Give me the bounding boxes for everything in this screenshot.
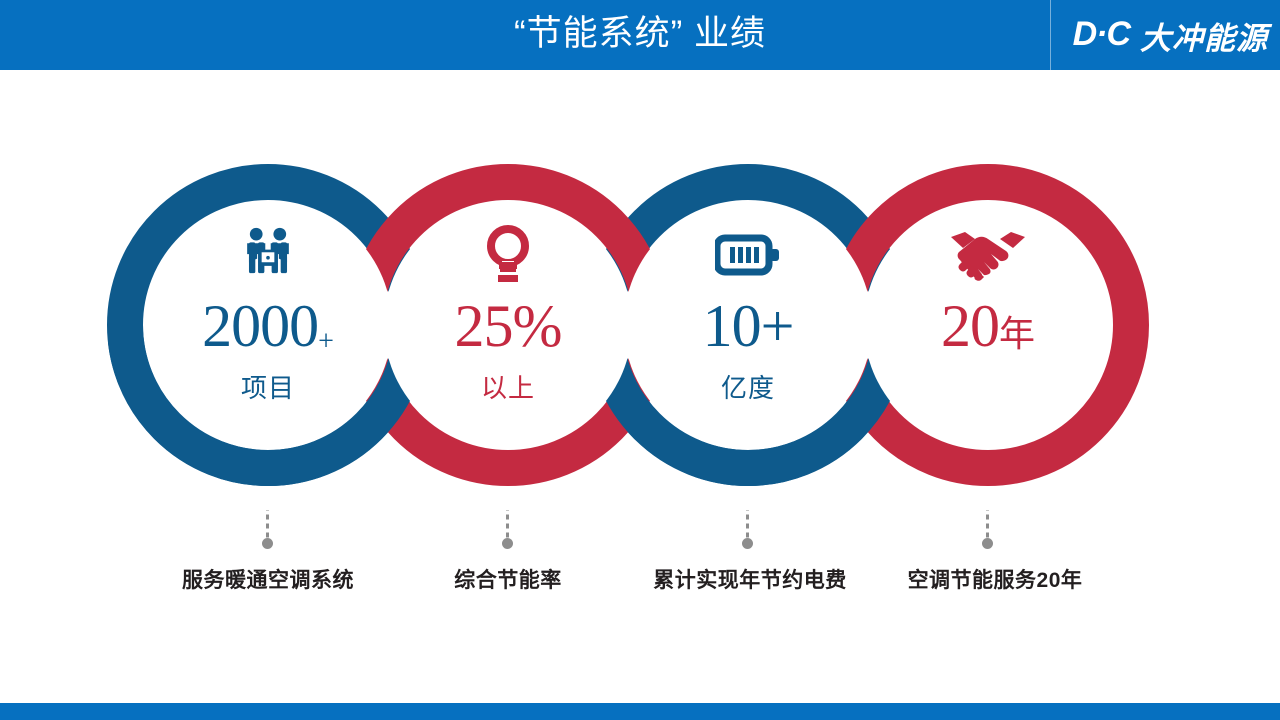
ring-content-savings[interactable]: 10+ 亿度: [633, 220, 863, 405]
connector-dot-experience: [982, 538, 993, 549]
logo-company-name: 大冲能源: [1140, 13, 1268, 58]
stat-sublabel-savings: 亿度: [633, 368, 863, 405]
brand-logo: D·C 大冲能源: [1050, 0, 1268, 70]
logo-divider: [1050, 0, 1051, 70]
stat-value-savings: 10+: [633, 296, 863, 356]
connector-dot-savings: [742, 538, 753, 549]
header-bar: “节能系统” 业绩 D·C 大冲能源: [0, 0, 1280, 70]
footer-bar: [0, 703, 1280, 720]
two-people-icon: [153, 220, 383, 290]
stats-rings-stage: 2000+ 项目 25% 以上: [0, 70, 1280, 703]
connector-dot-projects: [262, 538, 273, 549]
stat-value-efficiency: 25%: [393, 296, 623, 356]
battery-icon: [633, 220, 863, 290]
stat-sublabel-efficiency: 以上: [393, 368, 623, 405]
connector-dot-efficiency: [502, 538, 513, 549]
lightbulb-icon: [393, 220, 623, 290]
stat-sublabel-projects: 项目: [153, 368, 383, 405]
stat-value-projects: 2000+: [153, 296, 383, 356]
stat-value-experience: 20年: [873, 296, 1103, 356]
ring-content-experience[interactable]: 20年: [873, 220, 1103, 368]
logo-mark: D·C: [1073, 15, 1130, 54]
caption-experience: 空调节能服务20年: [845, 564, 1145, 594]
ring-content-projects[interactable]: 2000+ 项目: [153, 220, 383, 405]
handshake-icon: [873, 220, 1103, 290]
ring-content-efficiency[interactable]: 25% 以上: [393, 220, 623, 405]
